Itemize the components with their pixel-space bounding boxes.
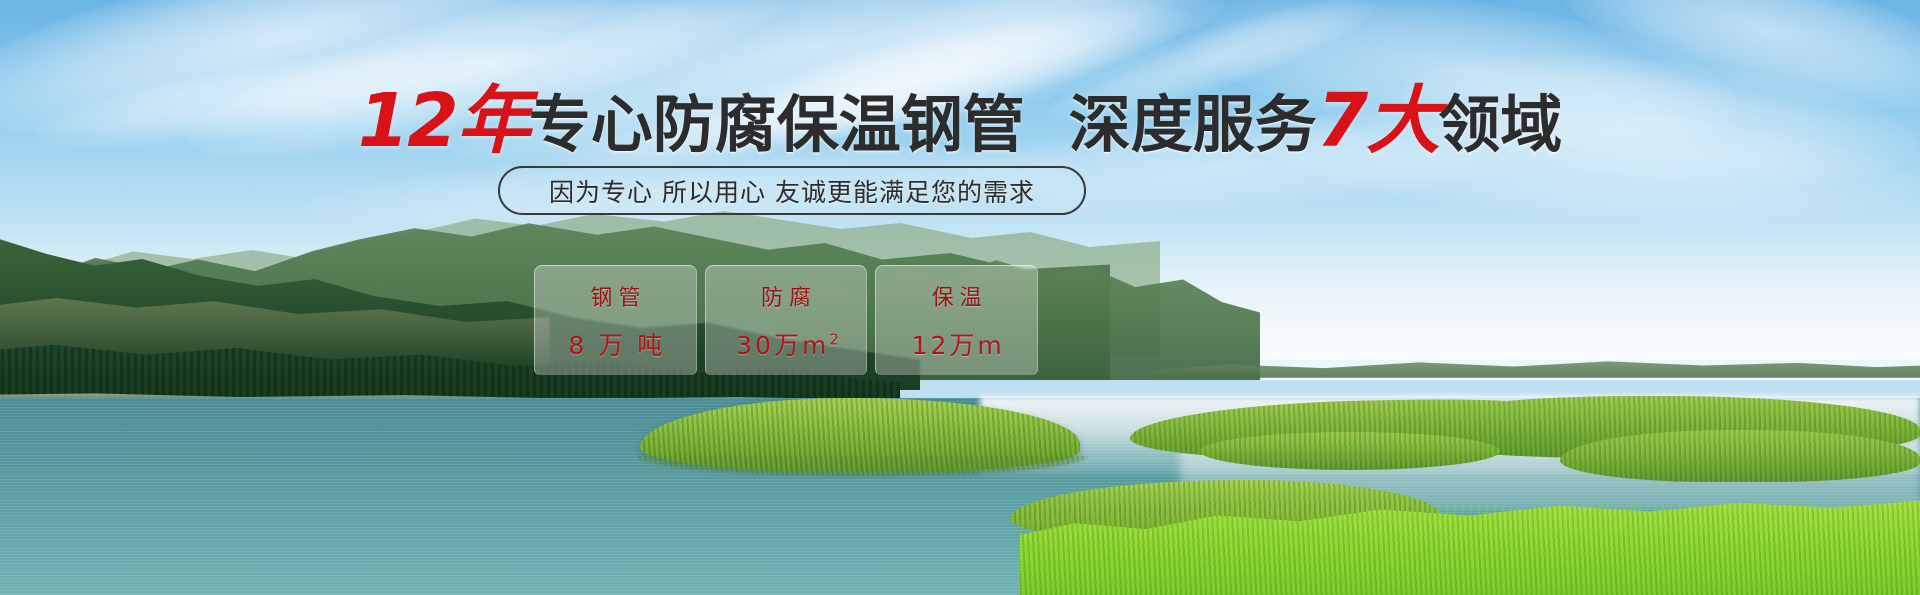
stat-value-text: 30万m (736, 331, 829, 360)
stat-label: 钢管 (584, 280, 646, 312)
headline-fields-text: 领域 (1438, 88, 1562, 161)
stat-label: 防腐 (755, 280, 817, 312)
marsh-patch (1200, 432, 1500, 470)
stat-card-insulation: 保温 12万m (875, 265, 1038, 375)
headline-fields-count: 7大 (1317, 78, 1439, 164)
stat-value-superscript: 2 (829, 330, 839, 348)
stat-value: 30万m2 (733, 326, 839, 362)
subtitle-pill: 因为专心 所以用心 友诚更能满足您的需求 (498, 166, 1086, 215)
stat-value-text: 12万m (912, 331, 1005, 360)
headline-main-text: 专心防腐保温钢管 (529, 88, 1025, 161)
hero-banner: 12年专心防腐保温钢管深度服务7大领域 因为专心 所以用心 友诚更能满足您的需求… (0, 0, 1920, 595)
headline-service-text: 深度服务 (1069, 88, 1317, 161)
stat-value-text: 8 万 吨 (568, 331, 665, 360)
headline: 12年专心防腐保温钢管深度服务7大领域 (0, 84, 1920, 158)
subtitle-text: 因为专心 所以用心 友诚更能满足您的需求 (549, 173, 1035, 209)
stat-card-steel-pipe: 钢管 8 万 吨 (534, 265, 697, 375)
stat-value: 8 万 吨 (565, 326, 665, 362)
stat-card-anticorrosion: 防腐 30万m2 (705, 265, 868, 375)
headline-years-badge: 12年 (358, 78, 529, 164)
stat-value: 12万m (909, 326, 1005, 362)
stat-card-group: 钢管 8 万 吨 防腐 30万m2 保温 12万m (534, 265, 1038, 375)
marsh-patch (1560, 430, 1920, 482)
stat-label: 保温 (926, 280, 988, 312)
